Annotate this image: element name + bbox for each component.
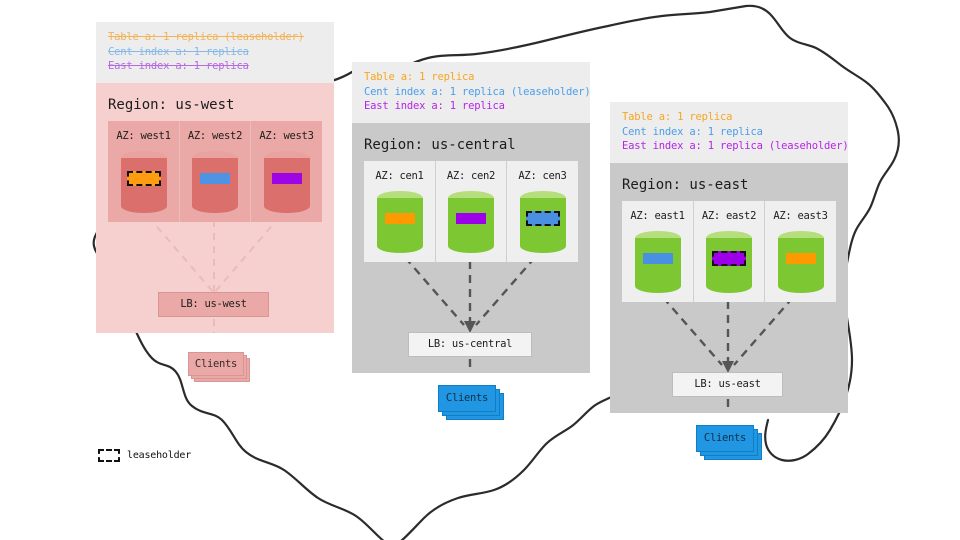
leaseholder-legend-label: leaseholder (127, 450, 191, 461)
dashed-rect-icon (98, 449, 120, 462)
node-cylinder-cen2[interactable] (448, 191, 494, 253)
range-replica-east-index-a (272, 173, 302, 184)
az-east3[interactable]: AZ: east3 (764, 201, 836, 302)
clients-label: Clients (188, 352, 244, 376)
az-label-west2: AZ: west2 (188, 130, 242, 142)
legend-line-east-index-a: East index a: 1 replica (leaseholder) (622, 139, 838, 154)
az-label-cen1: AZ: cen1 (375, 170, 423, 182)
range-replica-east-index-a (456, 213, 486, 224)
legend-line-table-a: Table a: 1 replica (622, 110, 838, 125)
node-cylinder-east2[interactable] (706, 231, 752, 293)
node-cylinder-cen3[interactable] (520, 191, 566, 253)
diagram-canvas: Table a: 1 replica (leaseholder) Cent in… (0, 0, 960, 540)
node-cylinder-east1[interactable] (635, 231, 681, 293)
az-west2[interactable]: AZ: west2 (179, 121, 250, 222)
node-cylinder-cen1[interactable] (377, 191, 423, 253)
region-legend-us-central: Table a: 1 replica Cent index a: 1 repli… (352, 62, 590, 123)
az-west1[interactable]: AZ: west1 (108, 121, 179, 222)
legend-line-cent-index-a: Cent index a: 1 replica (622, 125, 838, 140)
leaseholder-legend: leaseholder (98, 449, 191, 462)
node-cylinder-west2[interactable] (192, 151, 238, 213)
legend-line-east-index-a: East index a: 1 replica (108, 59, 324, 74)
region-us-west: Table a: 1 replica (leaseholder) Cent in… (96, 22, 334, 333)
az-label-cen2: AZ: cen2 (447, 170, 495, 182)
az-label-cen3: AZ: cen3 (518, 170, 566, 182)
az-label-east1: AZ: east1 (630, 210, 684, 222)
node-cylinder-west1[interactable] (121, 151, 167, 213)
range-replica-cent-index-a (200, 173, 230, 184)
az-cen2[interactable]: AZ: cen2 (435, 161, 506, 262)
clients-us-east[interactable]: Clients (696, 425, 764, 461)
range-replica-cent-index-a (643, 253, 673, 264)
region-title-us-central: Region: us-central (364, 137, 516, 153)
az-label-east3: AZ: east3 (773, 210, 827, 222)
az-east1[interactable]: AZ: east1 (622, 201, 693, 302)
load-balancer-us-central[interactable]: LB: us-central (408, 332, 532, 357)
az-strip-us-central: AZ: cen1 AZ: cen2 (364, 161, 578, 262)
region-panel-us-central: Region: us-central AZ: cen1 (352, 123, 590, 373)
region-us-east: Table a: 1 replica Cent index a: 1 repli… (610, 102, 848, 413)
range-replica-table-a (786, 253, 816, 264)
region-title-us-west: Region: us-west (108, 97, 234, 113)
legend-line-table-a: Table a: 1 replica (364, 70, 580, 85)
az-label-west3: AZ: west3 (259, 130, 313, 142)
load-balancer-us-east[interactable]: LB: us-east (672, 372, 783, 397)
range-replica-table-a-leaseholder (127, 171, 161, 186)
legend-line-table-a: Table a: 1 replica (leaseholder) (108, 30, 324, 45)
legend-line-cent-index-a: Cent index a: 1 replica (108, 45, 324, 60)
legend-line-east-index-a: East index a: 1 replica (364, 99, 580, 114)
az-cen3[interactable]: AZ: cen3 (506, 161, 578, 262)
region-legend-us-east: Table a: 1 replica Cent index a: 1 repli… (610, 102, 848, 163)
region-us-central: Table a: 1 replica Cent index a: 1 repli… (352, 62, 590, 373)
az-east2[interactable]: AZ: east2 (693, 201, 764, 302)
az-label-west1: AZ: west1 (116, 130, 170, 142)
clients-label: Clients (696, 425, 754, 452)
load-balancer-us-west[interactable]: LB: us-west (158, 292, 269, 317)
range-replica-east-index-a-leaseholder (712, 251, 746, 266)
clients-us-west[interactable]: Clients (188, 352, 250, 382)
region-panel-us-east: Region: us-east AZ: east1 (610, 163, 848, 413)
region-legend-us-west: Table a: 1 replica (leaseholder) Cent in… (96, 22, 334, 83)
legend-line-cent-index-a: Cent index a: 1 replica (leaseholder) (364, 85, 580, 100)
range-replica-table-a (385, 213, 415, 224)
clients-us-central[interactable]: Clients (438, 385, 506, 421)
az-cen1[interactable]: AZ: cen1 (364, 161, 435, 262)
az-west3[interactable]: AZ: west3 (250, 121, 322, 222)
clients-label: Clients (438, 385, 496, 412)
node-cylinder-east3[interactable] (778, 231, 824, 293)
range-replica-cent-index-a-leaseholder (526, 211, 560, 226)
region-title-us-east: Region: us-east (622, 177, 748, 193)
region-panel-us-west: Region: us-west AZ: west1 (96, 83, 334, 333)
az-strip-us-west: AZ: west1 AZ: west2 (108, 121, 322, 222)
az-strip-us-east: AZ: east1 AZ: east2 (622, 201, 836, 302)
az-label-east2: AZ: east2 (702, 210, 756, 222)
node-cylinder-west3[interactable] (264, 151, 310, 213)
